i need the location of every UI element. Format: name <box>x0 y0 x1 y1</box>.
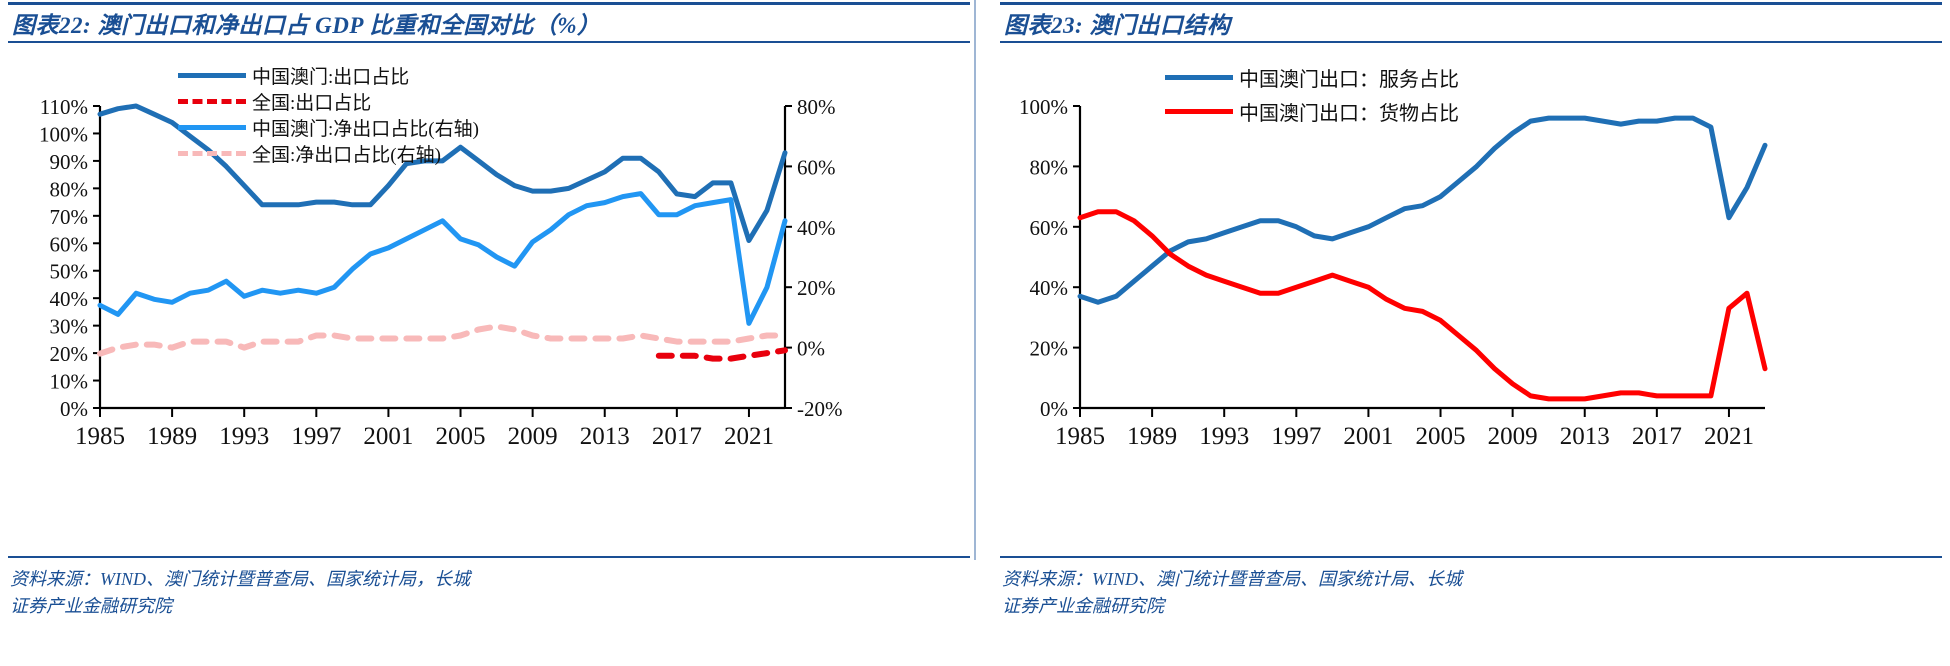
legend-item: 中国澳门出口：服务占比 <box>1165 60 1459 94</box>
x-tick-label: 2009 <box>508 423 558 450</box>
y-tick-label-left: 30% <box>50 315 89 339</box>
legend-22: 中国澳门:出口占比 全国:出口占比 中国澳门:净出口占比(右轴) 全国:净出口占… <box>178 62 479 166</box>
y-tick-label-right: 40% <box>797 216 836 240</box>
x-tick-label: 2017 <box>1632 423 1682 450</box>
y-tick-label-left: 40% <box>50 287 89 311</box>
y-tick-label-left: 20% <box>50 342 89 366</box>
legend-item: 中国澳门:净出口占比(右轴) <box>178 114 479 140</box>
y-tick-label-left: 80% <box>50 177 89 201</box>
x-tick-label: 2005 <box>436 423 486 450</box>
rule-bottom-left <box>8 41 970 43</box>
x-tick-label: 1993 <box>219 423 269 450</box>
legend-label: 中国澳门出口：服务占比 <box>1239 63 1459 92</box>
y-tick-label-left: 10% <box>50 370 89 394</box>
legend-swatch-line-icon <box>178 73 246 78</box>
legend-swatch-line-icon <box>178 125 246 130</box>
y-tick-label-left: 70% <box>50 205 89 229</box>
x-tick-label: 1985 <box>1055 423 1105 450</box>
x-tick-label: 2009 <box>1488 423 1538 450</box>
series-line <box>1080 212 1765 399</box>
x-tick-label: 2013 <box>1560 423 1610 450</box>
plot-area-22: 0%10%20%30%40%50%60%70%80%90%100%110%-20… <box>0 44 975 524</box>
y-tick-label-left: 100% <box>39 122 88 146</box>
x-tick-label: 2013 <box>580 423 630 450</box>
y-tick-label-left: 50% <box>50 260 89 284</box>
x-tick-label: 1985 <box>75 423 125 450</box>
source-note-22: 资料来源：WIND、澳门统计暨普查局、国家统计局，长城证券产业金融研究院 <box>10 566 480 620</box>
y-tick-label-right: -20% <box>797 397 843 421</box>
source-rule-left <box>8 556 970 558</box>
y-tick-label-left: 60% <box>50 232 89 256</box>
legend-item: 全国:出口占比 <box>178 88 479 114</box>
source-note-23: 资料来源：WIND、澳门统计暨普查局、国家统计局、长城证券产业金融研究院 <box>1002 566 1472 620</box>
x-tick-label: 2001 <box>1343 423 1393 450</box>
y-tick-label-right: 60% <box>797 155 836 179</box>
rule-top-left <box>8 2 970 5</box>
figure-page: 图表22: 澳门出口和净出口占 GDP 比重和全国对比（%） 图表23: 澳门出… <box>0 0 1950 666</box>
x-tick-label: 1997 <box>1271 423 1321 450</box>
x-tick-label: 2017 <box>652 423 702 450</box>
legend-23: 中国澳门出口：服务占比 中国澳门出口：货物占比 <box>1165 60 1459 128</box>
x-tick-label: 2021 <box>1704 423 1754 450</box>
y-tick-label-right: 20% <box>797 276 836 300</box>
y-tick-label-left: 90% <box>50 150 89 174</box>
legend-label: 中国澳门:出口占比 <box>252 62 409 89</box>
y-tick-label-left: 0% <box>60 397 88 421</box>
legend-label: 全国:出口占比 <box>252 88 371 115</box>
chart-panel-22: 中国澳门:出口占比 全国:出口占比 中国澳门:净出口占比(右轴) 全国:净出口占… <box>0 44 975 524</box>
x-tick-label: 1993 <box>1199 423 1249 450</box>
source-rule-right <box>1000 556 1942 558</box>
series-line <box>659 350 785 358</box>
x-tick-label: 2005 <box>1416 423 1466 450</box>
y-tick-label-left: 20% <box>1030 337 1069 361</box>
series-line <box>100 327 785 354</box>
legend-item: 全国:净出口占比(右轴) <box>178 140 479 166</box>
legend-swatch-dashed-icon <box>178 151 246 156</box>
chart-title-22: 图表22: 澳门出口和净出口占 GDP 比重和全国对比（%） <box>12 6 600 40</box>
legend-label: 全国:净出口占比(右轴) <box>252 140 441 167</box>
rule-bottom-right <box>1000 41 1942 43</box>
y-tick-label-right: 80% <box>797 95 836 119</box>
y-tick-label-right: 0% <box>797 337 825 361</box>
y-tick-label-left: 100% <box>1019 95 1068 119</box>
chart-panel-23: 中国澳门出口：服务占比 中国澳门出口：货物占比 0%20%40%60%80%10… <box>975 44 1950 524</box>
y-tick-label-left: 60% <box>1030 216 1069 240</box>
y-tick-label-left: 110% <box>40 95 88 119</box>
legend-label: 中国澳门出口：货物占比 <box>1239 97 1459 126</box>
legend-swatch-line-icon <box>1165 109 1233 114</box>
x-tick-label: 1989 <box>1127 423 1177 450</box>
series-line <box>1080 118 1765 302</box>
legend-label: 中国澳门:净出口占比(右轴) <box>252 114 479 141</box>
y-tick-label-left: 80% <box>1030 155 1069 179</box>
y-tick-label-left: 40% <box>1030 276 1069 300</box>
x-tick-label: 2001 <box>363 423 413 450</box>
legend-item: 中国澳门出口：货物占比 <box>1165 94 1459 128</box>
plot-area-23: 0%20%40%60%80%100%1985198919931997200120… <box>975 44 1950 524</box>
legend-swatch-line-icon <box>1165 75 1233 80</box>
series-line <box>100 194 785 324</box>
x-tick-label: 2021 <box>724 423 774 450</box>
legend-item: 中国澳门:出口占比 <box>178 62 479 88</box>
y-tick-label-left: 0% <box>1040 397 1068 421</box>
x-tick-label: 1989 <box>147 423 197 450</box>
legend-swatch-dashed-icon <box>178 99 246 104</box>
rule-top-right <box>1000 2 1942 5</box>
chart-title-23: 图表23: 澳门出口结构 <box>1004 6 1230 40</box>
x-tick-label: 1997 <box>291 423 341 450</box>
